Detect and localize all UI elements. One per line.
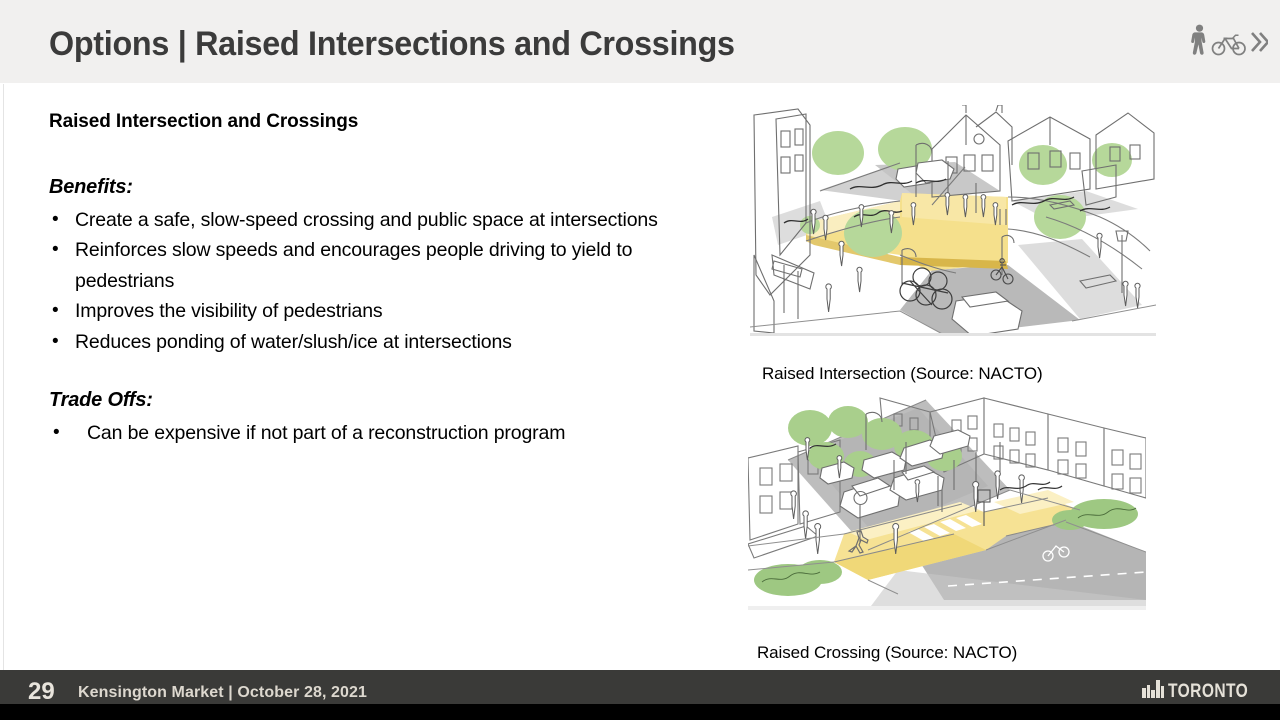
footer-text: Kensington Market | October 28, 2021 xyxy=(78,684,367,702)
bullet-glyph: • xyxy=(52,235,59,266)
list-item-text: Can be expensive if not part of a recons… xyxy=(87,422,565,444)
bullet-glyph: • xyxy=(52,327,59,358)
list-item-text: Reinforces slow speeds and encourages pe… xyxy=(75,239,632,292)
toronto-skyline-icon xyxy=(1142,680,1164,703)
list-item: • Improves the visibility of pedestrians xyxy=(49,296,729,327)
list-item: • Reinforces slow speeds and encourages … xyxy=(49,235,729,296)
toronto-wordmark: TORONTO xyxy=(1168,681,1248,703)
benefits-heading: Benefits: xyxy=(49,176,729,199)
content-frame-edge xyxy=(3,84,4,670)
list-item: • Reduces ponding of water/slush/ice at … xyxy=(49,327,729,358)
list-item: • Can be expensive if not part of a reco… xyxy=(49,418,729,449)
bullet-glyph: • xyxy=(52,205,59,236)
list-item: • Create a safe, slow-speed crossing and… xyxy=(49,205,729,236)
figure-2-caption: Raised Crossing (Source: NACTO) xyxy=(757,643,1017,663)
slide-header: Options | Raised Intersections and Cross… xyxy=(0,0,1280,83)
slide: Options | Raised Intersections and Cross… xyxy=(0,0,1280,720)
slide-number: 29 xyxy=(28,678,55,706)
header-icon-group xyxy=(1189,24,1268,56)
pedestrian-icon xyxy=(1189,24,1209,56)
raised-intersection-illustration xyxy=(750,105,1156,336)
content-text-block: Raised Intersection and Crossings Benefi… xyxy=(49,110,729,449)
tradeoffs-list: • Can be expensive if not part of a reco… xyxy=(49,418,729,449)
tradeoffs-heading: Trade Offs: xyxy=(49,389,729,412)
list-item-text: Reduces ponding of water/slush/ice at in… xyxy=(75,331,512,353)
page-title: Options | Raised Intersections and Cross… xyxy=(49,25,735,64)
list-item-text: Improves the visibility of pedestrians xyxy=(75,300,383,322)
bottom-black-band xyxy=(0,704,1280,720)
content-subtitle: Raised Intersection and Crossings xyxy=(49,110,729,134)
raised-crossing-illustration xyxy=(748,394,1146,610)
double-chevron-icon xyxy=(1248,28,1268,56)
bullet-glyph: • xyxy=(53,418,60,449)
benefits-list: • Create a safe, slow-speed crossing and… xyxy=(49,205,729,358)
figure-1-caption: Raised Intersection (Source: NACTO) xyxy=(762,364,1043,384)
list-item-text: Create a safe, slow-speed crossing and p… xyxy=(75,209,658,231)
toronto-logo: TORONTO xyxy=(1142,680,1266,703)
bullet-glyph: • xyxy=(52,296,59,327)
bicycle-icon xyxy=(1211,32,1247,56)
